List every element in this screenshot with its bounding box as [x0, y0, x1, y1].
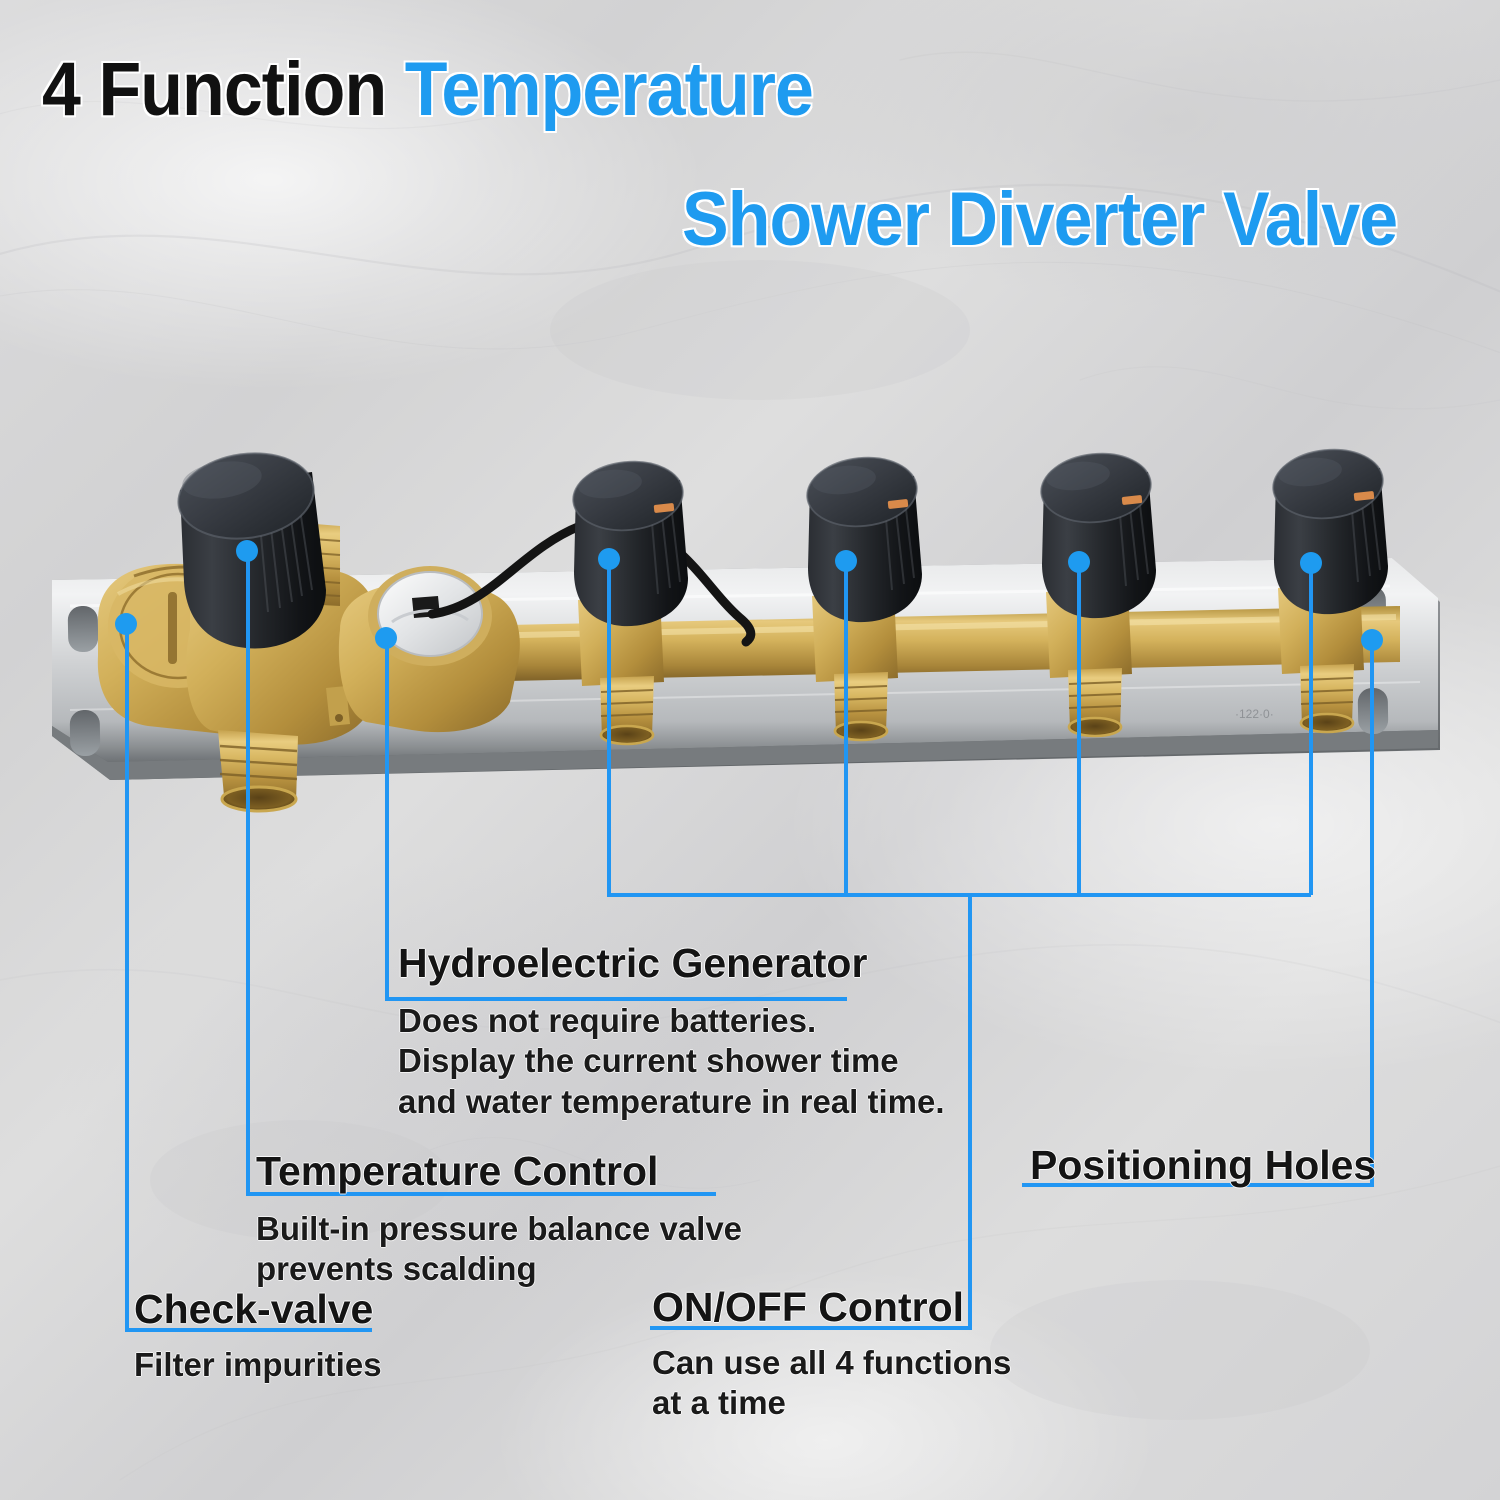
callout-body-hydro-2: Display the current shower time [398, 1041, 945, 1081]
title-line-1: 4 Function Temperature [42, 52, 813, 128]
title-part-blue: Temperature [405, 47, 813, 132]
knob-onoff-2 [804, 452, 922, 622]
callout-heading-temperature: Temperature Control [256, 1148, 742, 1195]
callout-label-hydroelectric-generator: Hydroelectric Generator Does not require… [398, 940, 945, 1122]
knob-onoff-3 [1038, 448, 1156, 618]
callout-label-positioning-holes: Positioning Holes [1030, 1142, 1376, 1189]
callout-body-onoff-2: at a time [652, 1383, 1011, 1423]
title-part-dark: 4 Function [42, 47, 405, 132]
callout-label-check-valve: Check-valve Filter impurities [134, 1286, 382, 1385]
knob-onoff-4 [1270, 444, 1388, 614]
callout-label-temperature-control: Temperature Control Built-in pressure ba… [256, 1148, 742, 1290]
infographic-canvas: 4 Function Temperature Shower Diverter V… [0, 0, 1500, 1500]
product-photo: ·122·0· [40, 430, 1460, 830]
knob-onoff-1 [570, 456, 688, 626]
callout-heading-check-valve: Check-valve [134, 1286, 382, 1333]
title-line-2: Shower Diverter Valve [682, 182, 1397, 258]
callout-body-onoff-1: Can use all 4 functions [652, 1343, 1011, 1383]
callout-heading-positioning-holes: Positioning Holes [1030, 1142, 1376, 1189]
callout-body-check-valve-1: Filter impurities [134, 1345, 382, 1385]
callout-heading-onoff: ON/OFF Control [652, 1284, 1011, 1331]
callout-label-on-off-control: ON/OFF Control Can use all 4 functions a… [652, 1284, 1011, 1424]
svg-text:·122·0·: ·122·0· [1235, 707, 1274, 721]
callout-body-hydro-1: Does not require batteries. [398, 1001, 945, 1041]
callout-heading-hydro: Hydroelectric Generator [398, 940, 945, 987]
callout-body-hydro-3: and water temperature in real time. [398, 1082, 945, 1122]
knob-temperature [173, 445, 326, 649]
callout-body-temperature-1: Built-in pressure balance valve [256, 1209, 742, 1249]
